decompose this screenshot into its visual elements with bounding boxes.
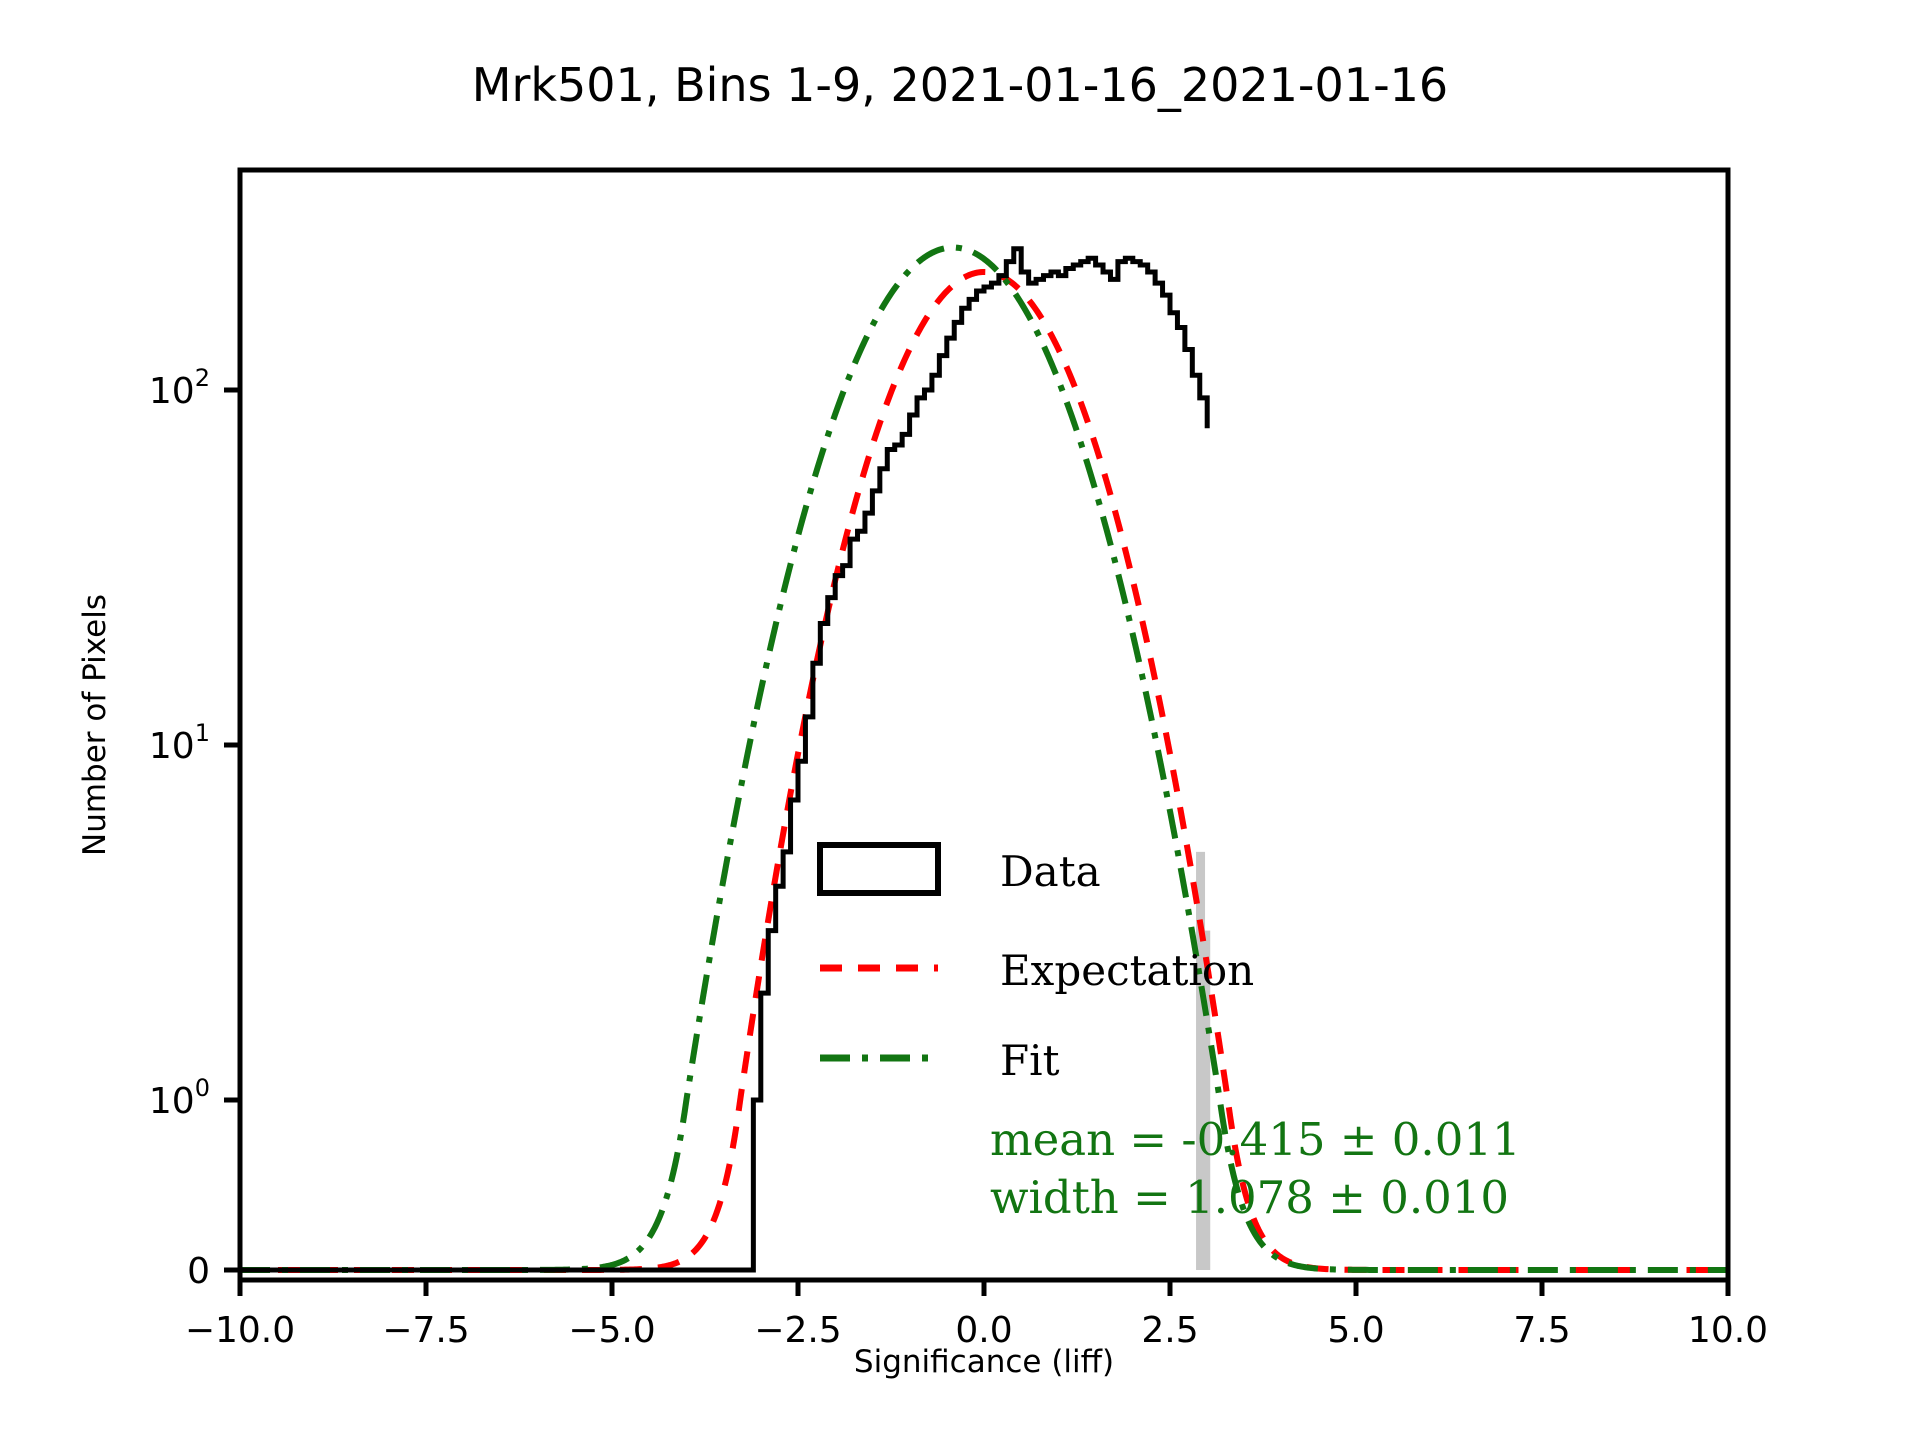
legend-label-data: Data: [1000, 847, 1101, 896]
y-tick-label: 101: [149, 719, 210, 767]
histogram-plot: −10.0−7.5−5.0−2.50.02.55.07.510.0 010010…: [0, 0, 1920, 1440]
x-axis-ticks: −10.0−7.5−5.0−2.50.02.55.07.510.0: [185, 1280, 1768, 1351]
chart-page: Mrk501, Bins 1-9, 2021-01-16_2021-01-16 …: [0, 0, 1920, 1440]
x-tick-label: 7.5: [1513, 1310, 1570, 1351]
x-tick-label: 10.0: [1688, 1310, 1768, 1351]
legend-label-fit: Fit: [1000, 1036, 1060, 1085]
y-tick-label: 100: [149, 1074, 210, 1122]
x-axis-label: Significance (liff): [854, 1344, 1114, 1380]
x-tick-label: −10.0: [185, 1310, 295, 1351]
x-tick-label: −2.5: [754, 1310, 841, 1351]
x-tick-label: 2.5: [1141, 1310, 1198, 1351]
y-axis-label: Number of Pixels: [77, 594, 113, 856]
y-axis-ticks: 0100101102: [149, 364, 240, 1292]
y-tick-label: 0: [187, 1251, 210, 1292]
annotation-mean: mean = -0.415 ± 0.011: [990, 1113, 1521, 1166]
x-tick-label: −5.0: [568, 1310, 655, 1351]
x-tick-label: 5.0: [1327, 1310, 1384, 1351]
legend-swatch-data: [820, 845, 938, 893]
y-tick-label: 102: [149, 364, 210, 412]
x-tick-label: −7.5: [382, 1310, 469, 1351]
legend-label-expectation: Expectation: [1000, 946, 1254, 995]
annotation-width: width = 1.078 ± 0.010: [990, 1171, 1509, 1224]
